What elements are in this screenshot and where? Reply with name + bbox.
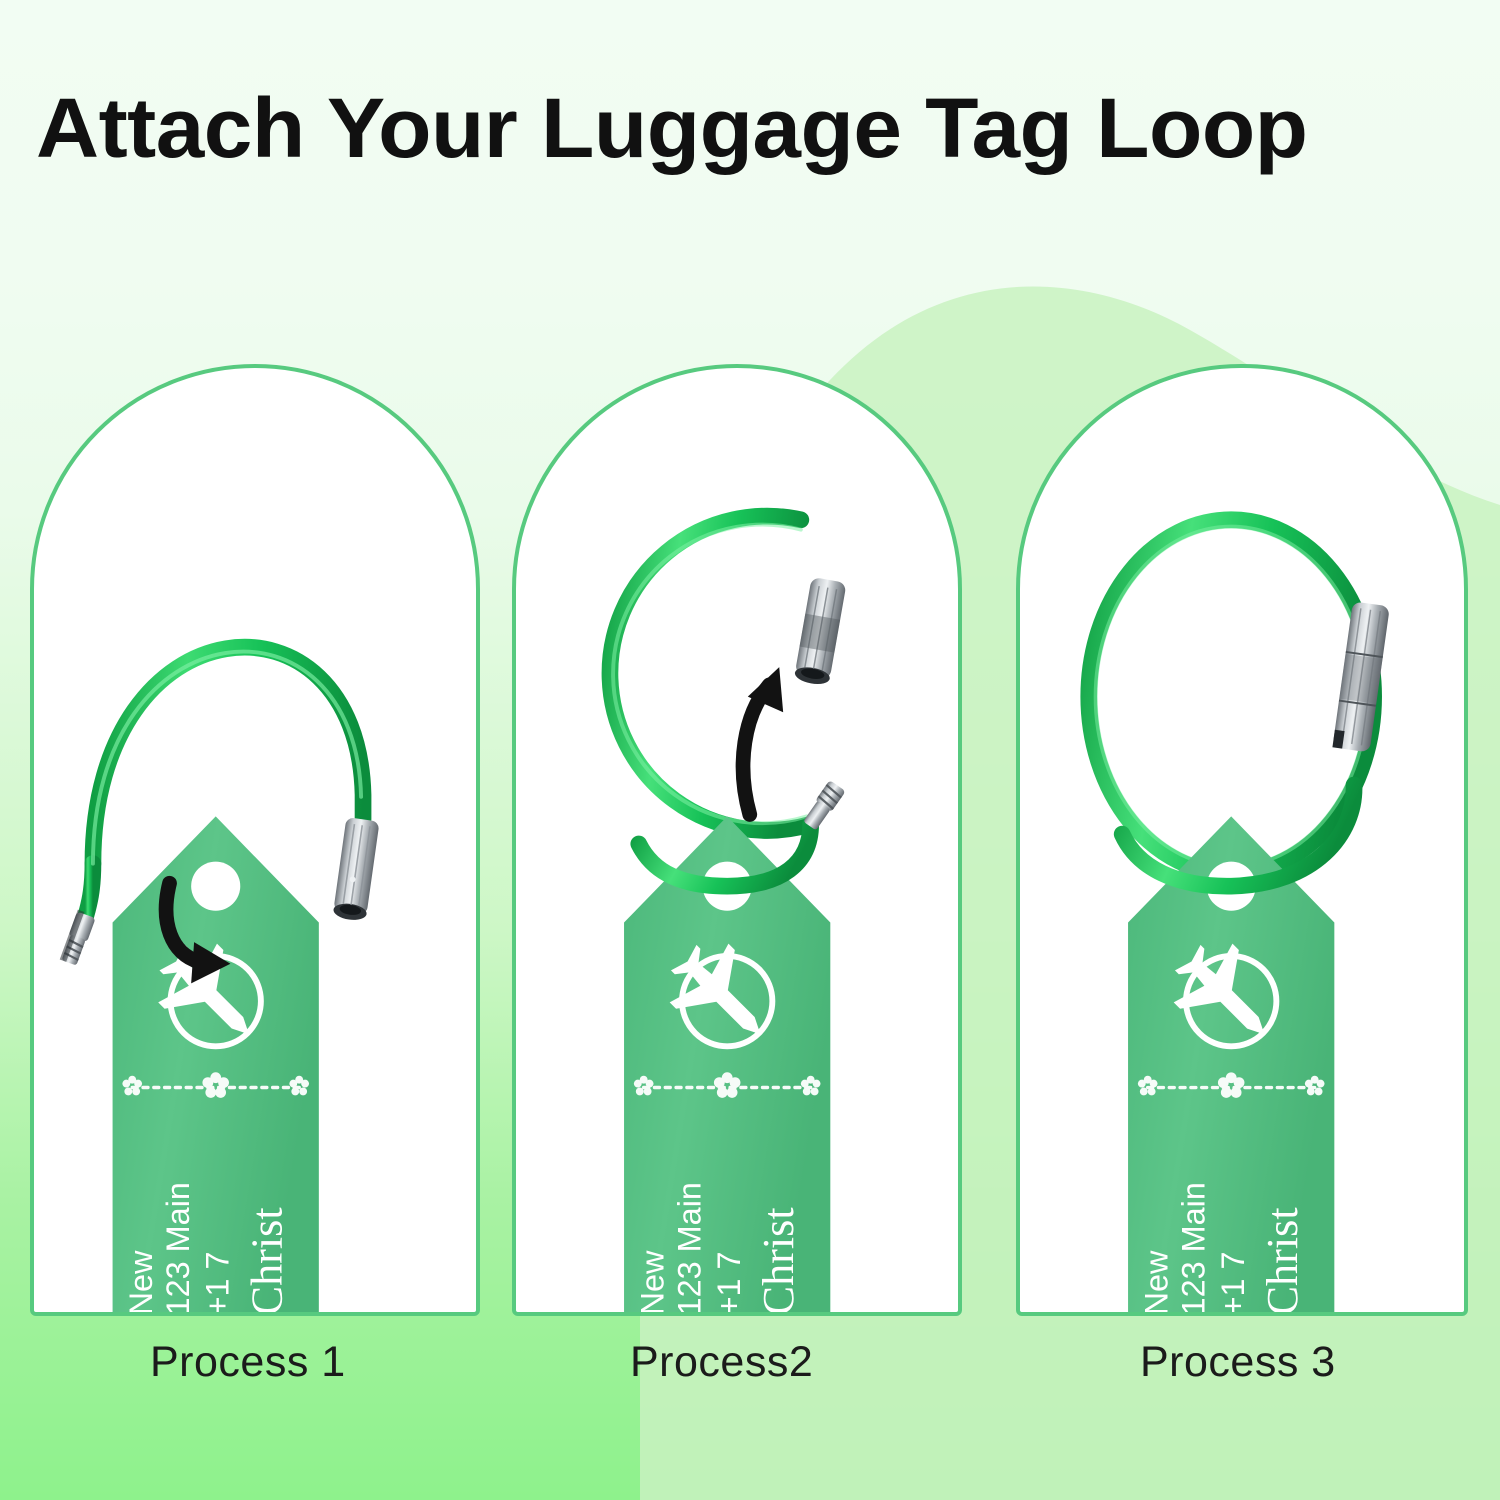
screw-pin-end [801, 780, 845, 831]
process-panels: Christ +1 7 123 Main New [0, 0, 1500, 1500]
tag-line-address2: New [123, 1250, 159, 1312]
caption-process-1: Process 1 [150, 1338, 346, 1387]
assembled-clasp [1332, 601, 1389, 752]
barrel-socket-end [794, 577, 847, 687]
caption-process-3: Process 3 [1140, 1338, 1336, 1387]
tag-line-address1: 123 Main [1176, 1182, 1212, 1312]
tag-line-address1: 123 Main [160, 1182, 196, 1312]
tag-line-name: Christ [1258, 1207, 1307, 1312]
process-1-illustration: Christ +1 7 123 Main New [34, 368, 476, 1312]
tag-line-phone: +1 7 [1215, 1251, 1251, 1312]
tag-line-address1: 123 Main [672, 1182, 708, 1312]
tag-line-address2: New [634, 1250, 670, 1312]
tag-hole [191, 862, 240, 911]
tag-line-name: Christ [754, 1207, 803, 1312]
screw-arrow-icon [743, 667, 783, 814]
caption-process-2: Process2 [630, 1338, 813, 1387]
infographic-stage: Attach Your Luggage Tag Loop [0, 0, 1500, 1500]
process-panel-1: Christ +1 7 123 Main New [30, 364, 480, 1316]
tag-line-address2: New [1138, 1250, 1174, 1312]
tag-line-phone: +1 7 [711, 1251, 747, 1312]
barrel-socket-end [332, 817, 379, 922]
process-3-illustration: Christ +1 7 123 Main New [1020, 368, 1464, 1312]
process-panel-2: Christ +1 7 123 Main New [512, 364, 962, 1316]
cable-wire [610, 516, 811, 830]
process-2-illustration: Christ +1 7 123 Main New [516, 368, 958, 1312]
luggage-tag: Christ +1 7 123 Main New [113, 816, 319, 1312]
tag-line-phone: +1 7 [199, 1251, 235, 1312]
tag-line-name: Christ [243, 1207, 292, 1312]
process-panel-3: Christ +1 7 123 Main New [1016, 364, 1468, 1316]
screw-pin-end [60, 910, 97, 967]
